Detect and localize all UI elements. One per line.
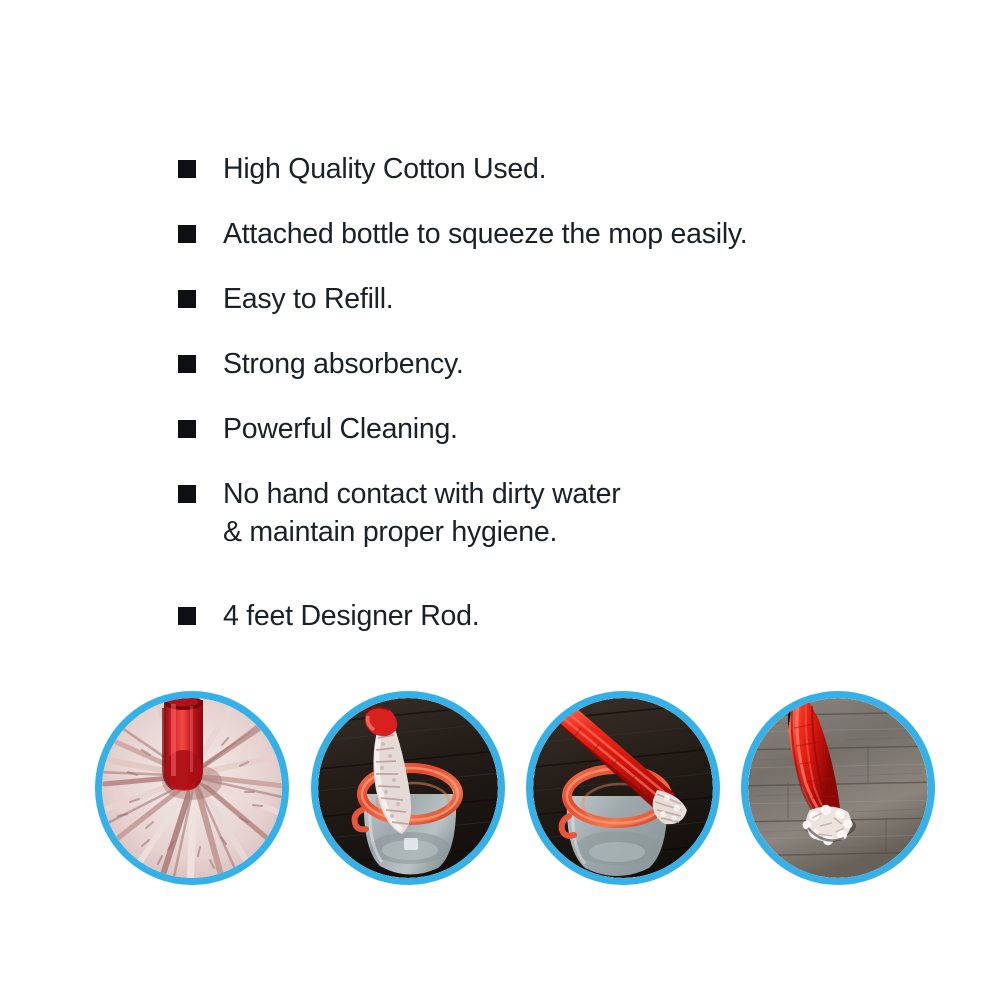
product-photo-mop-head-closeup [95,691,289,885]
bullet-square-icon [178,607,196,625]
feature-text: High Quality Cotton Used. [223,150,546,188]
product-photo-mop-on-floor [741,691,935,885]
product-photo-strip [0,691,1000,891]
bullet-square-icon [178,485,196,503]
list-item: Easy to Refill. [178,280,938,318]
photo-image [533,698,713,878]
bullet-square-icon [178,290,196,308]
photo-image [102,698,282,878]
feature-list: High Quality Cotton Used. Attached bottl… [178,150,938,662]
product-feature-graphic: High Quality Cotton Used. Attached bottl… [0,0,1000,1000]
product-photo-mop-rod-over-bucket [526,691,720,885]
bullet-square-icon [178,355,196,373]
mop-rod-over-bucket-image [533,698,713,878]
list-item: Attached bottle to squeeze the mop easil… [178,215,938,253]
feature-text: Powerful Cleaning. [223,410,458,448]
bullet-square-icon [178,225,196,243]
mop-on-floor-image [748,698,928,878]
feature-text: 4 feet Designer Rod. [223,597,479,635]
photo-image [318,698,498,878]
bullet-square-icon [178,420,196,438]
product-photo-mop-in-bucket [311,691,505,885]
mop-in-bucket-image [318,698,498,878]
photo-image [748,698,928,878]
mop-head-closeup-image [102,698,282,878]
list-item: High Quality Cotton Used. [178,150,938,188]
bullet-square-icon [178,160,196,178]
list-item: Strong absorbency. [178,345,938,383]
feature-text: Easy to Refill. [223,280,393,318]
list-item: No hand contact with dirty water & maint… [178,475,938,551]
list-item: 4 feet Designer Rod. [178,597,938,635]
feature-text: Attached bottle to squeeze the mop easil… [223,215,747,253]
feature-text: No hand contact with dirty water & maint… [223,475,621,551]
feature-text: Strong absorbency. [223,345,464,383]
list-item: Powerful Cleaning. [178,410,938,448]
